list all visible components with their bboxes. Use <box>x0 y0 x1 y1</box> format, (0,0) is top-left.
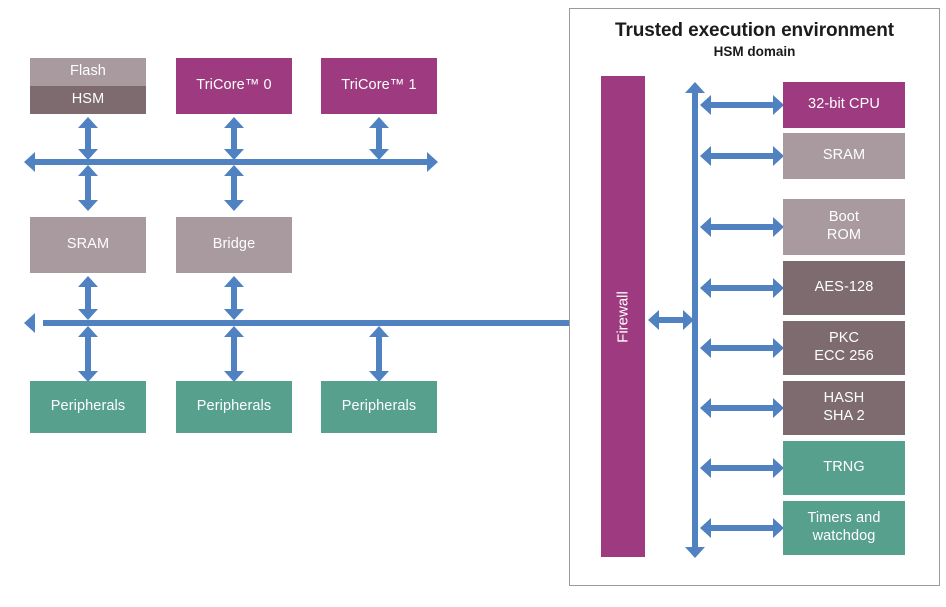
block-tricore-1-label: TriCore™ 1 <box>341 77 416 95</box>
arrowhead-down-icon <box>224 200 244 211</box>
connector-firewall-to-hsm-bus <box>648 310 694 330</box>
tee-subtitle-line: HSM domain <box>569 44 940 59</box>
connector-stem <box>657 317 685 323</box>
connector-bus-to-hash-sha-2 <box>700 398 784 418</box>
block-trng: TRNG <box>783 441 905 495</box>
block-pkc-ecc-256-label-line1: PKC <box>829 330 859 348</box>
connector-lower-bus-to-peripherals-1 <box>78 326 98 382</box>
connector-bus-to-32-bit-cpu <box>700 95 784 115</box>
arrowhead-down-icon <box>78 309 98 320</box>
connector-bridge-to-lower-bus <box>224 276 244 320</box>
block-aes-128-label: AES-128 <box>815 279 874 297</box>
connector-stem <box>231 174 237 202</box>
arrowhead-down-icon <box>685 547 705 558</box>
bus-line <box>43 320 591 326</box>
connector-stem <box>85 126 91 151</box>
connector-bus-to-pkc-ecc-256 <box>700 338 784 358</box>
block-peripherals-2-label: Peripherals <box>197 398 271 416</box>
connector-flash-to-upper-bus <box>78 117 98 160</box>
connector-stem <box>709 465 775 471</box>
arrowhead-down-icon <box>78 200 98 211</box>
connector-stem <box>231 285 237 311</box>
block-firewall: Firewall <box>601 76 645 557</box>
connector-stem <box>709 224 775 230</box>
connector-upper-bus-to-bridge <box>224 165 244 211</box>
block-hash-sha-2-label-line1: HASH <box>824 390 865 408</box>
block-boot-rom-label-line1: Boot <box>829 209 859 227</box>
block-aes-128: AES-128 <box>783 261 905 315</box>
block-tricore-1: TriCore™ 1 <box>321 58 437 114</box>
connector-stem <box>85 285 91 311</box>
connector-bus-to-trng <box>700 458 784 478</box>
connector-stem <box>85 335 91 373</box>
block-hsm-sram-label: SRAM <box>823 147 865 165</box>
block-tricore-0-label: TriCore™ 0 <box>196 77 271 95</box>
connector-bus-to-hsm-sram <box>700 146 784 166</box>
arrowhead-right-icon <box>427 152 438 172</box>
block-peripherals-3-label: Peripherals <box>342 398 416 416</box>
block-host-sram-label: SRAM <box>67 236 109 254</box>
block-hash-sha-2-label-line2: SHA 2 <box>823 408 865 426</box>
block-boot-rom: Boot ROM <box>783 199 905 255</box>
arrowhead-left-icon <box>24 152 35 172</box>
block-hsm: HSM <box>30 86 146 114</box>
block-flash-label: Flash <box>70 63 106 81</box>
connector-upper-bus-to-sram <box>78 165 98 211</box>
block-pkc-ecc-256-label-line2: ECC 256 <box>814 348 874 366</box>
connector-stem <box>709 345 775 351</box>
block-timers-and-watchdog-label-line1: Timers and <box>808 510 881 528</box>
connector-lower-bus-to-peripherals-2 <box>224 326 244 382</box>
connector-bus-to-timers-and-watchdog <box>700 518 784 538</box>
block-boot-rom-label-line2: ROM <box>827 227 861 245</box>
block-bridge-label: Bridge <box>213 236 256 254</box>
connector-stem <box>376 126 382 151</box>
block-peripherals-2: Peripherals <box>176 381 292 433</box>
bus-line <box>692 92 698 548</box>
block-tricore-0: TriCore™ 0 <box>176 58 292 114</box>
block-pkc-ecc-256: PKC ECC 256 <box>783 321 905 375</box>
block-bridge: Bridge <box>176 217 292 273</box>
block-peripherals-1: Peripherals <box>30 381 146 433</box>
block-peripherals-1-label: Peripherals <box>51 398 125 416</box>
block-firewall-label: Firewall <box>615 291 632 343</box>
connector-stem <box>709 405 775 411</box>
connector-stem <box>231 126 237 151</box>
block-peripherals-3: Peripherals <box>321 381 437 433</box>
connector-lower-bus-to-peripherals-3 <box>369 326 389 382</box>
connector-stem <box>85 174 91 202</box>
tee-title-line: Trusted execution environment <box>569 20 940 42</box>
block-32-bit-cpu-label: 32-bit CPU <box>808 96 880 114</box>
connector-stem <box>709 153 775 159</box>
connector-stem <box>709 525 775 531</box>
block-trng-label: TRNG <box>823 459 864 477</box>
connector-tricore0-to-upper-bus <box>224 117 244 160</box>
diagram-canvas: Flash HSM TriCore™ 0 TriCore™ 1 <box>0 0 946 607</box>
connector-bus-to-aes-128 <box>700 278 784 298</box>
block-flash: Flash <box>30 58 146 86</box>
connector-sram-to-lower-bus <box>78 276 98 320</box>
block-timers-and-watchdog: Timers and watchdog <box>783 501 905 555</box>
block-32-bit-cpu: 32-bit CPU <box>783 82 905 128</box>
connector-stem <box>231 335 237 373</box>
connector-bus-to-boot-rom <box>700 217 784 237</box>
block-timers-and-watchdog-label-line2: watchdog <box>813 528 876 546</box>
connector-tricore1-to-upper-bus <box>369 117 389 160</box>
block-hsm-sram: SRAM <box>783 133 905 179</box>
arrowhead-down-icon <box>224 309 244 320</box>
block-hsm-label: HSM <box>72 91 105 109</box>
connector-stem <box>709 285 775 291</box>
tee-panel-title: Trusted execution environment HSM domain <box>569 20 940 59</box>
block-hash-sha-2: HASH SHA 2 <box>783 381 905 435</box>
connector-stem <box>376 335 382 373</box>
block-host-sram: SRAM <box>30 217 146 273</box>
arrowhead-left-icon <box>24 313 35 333</box>
connector-stem <box>709 102 775 108</box>
